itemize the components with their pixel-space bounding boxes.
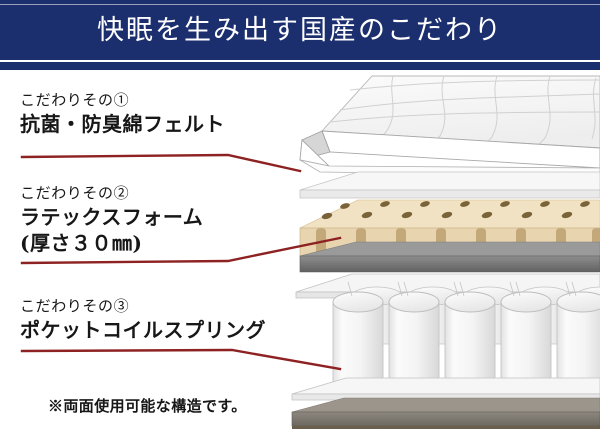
feature-3-eyebrow: こだわりその③ — [20, 296, 266, 317]
feature-3-name: ポケットコイルスプリング — [20, 317, 266, 343]
quilted-cover-layer — [300, 76, 600, 176]
feature-2-eyebrow: こだわりその② — [20, 183, 203, 204]
mattress-structure-infographic: 快眠を生み出す国産のこだわり — [0, 0, 600, 443]
bottom-sheet-layer — [292, 378, 600, 400]
base-board-layer — [292, 398, 600, 429]
feature-1-eyebrow: こだわりその① — [20, 90, 225, 111]
feature-label-1: こだわりその① 抗菌・防臭綿フェルト — [20, 90, 225, 137]
feature-label-2: こだわりその② ラテックスフォーム (厚さ３０㎜) — [20, 183, 203, 256]
feature-2-name: ラテックスフォーム — [20, 204, 203, 230]
felt-sheet-layer — [300, 172, 600, 198]
feature-1-name: 抗菌・防臭綿フェルト — [20, 111, 225, 137]
gray-pad-layer — [300, 242, 600, 272]
footnote-text: ※両面使用可能な構造です。 — [48, 396, 247, 416]
feature-label-3: こだわりその③ ポケットコイルスプリング — [20, 296, 266, 343]
feature-2-sub: (厚さ３０㎜) — [20, 230, 203, 256]
